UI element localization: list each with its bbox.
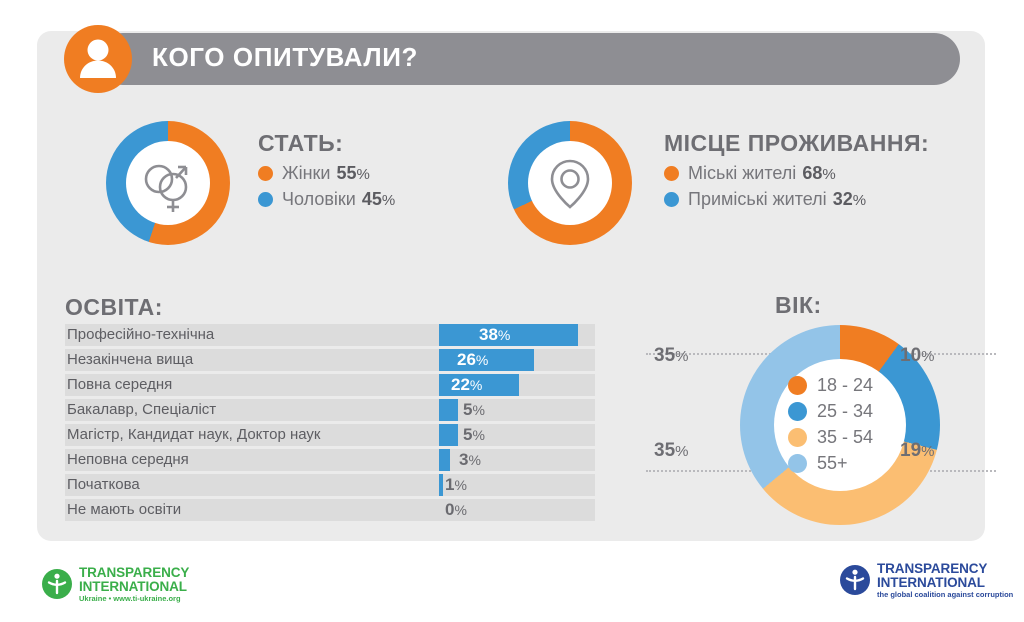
bar-fill — [439, 399, 458, 421]
bar-value: 1% — [445, 474, 467, 496]
legend-color-dot — [258, 192, 273, 207]
transparency-international-mark-icon — [840, 565, 870, 595]
bar-fill — [439, 424, 458, 446]
bar-label: Незакінчена вища — [67, 349, 193, 371]
bar-value: 0% — [445, 499, 467, 521]
gender-symbols-icon — [126, 141, 210, 225]
table-row: Не мають освіти 0% — [65, 499, 595, 521]
legend-item-label: Чоловіки — [282, 189, 356, 210]
age-callout-bottom-left: 35% — [654, 440, 688, 462]
legend-color-dot — [788, 454, 807, 473]
location-donut-hole — [528, 141, 612, 225]
legend-item-label: Міські жителі — [688, 163, 796, 184]
legend-item-label: 18 - 24 — [817, 375, 873, 396]
legend-color-dot — [788, 376, 807, 395]
age-section-title: ВІК: — [775, 292, 822, 319]
logo-text: TRANSPARENCY INTERNATIONAL the global co… — [877, 562, 1013, 598]
bar-value: 26% — [457, 349, 488, 371]
age-callout-top-left: 35% — [654, 345, 688, 367]
legend-item: Приміські жителі 32% — [664, 186, 866, 212]
bar-label: Неповна середня — [67, 449, 189, 471]
legend-item-value: 45% — [362, 189, 395, 210]
age-callout-top-right: 10% — [900, 345, 934, 367]
legend-color-dot — [664, 166, 679, 181]
transparency-international-logo: TRANSPARENCY INTERNATIONAL the global co… — [840, 562, 1013, 598]
logo-tagline: Ukraine • www.ti-ukraine.org — [79, 595, 189, 603]
legend-item: 25 - 34 — [788, 398, 873, 424]
bar-label: Магістр, Кандидат наук, Доктор наук — [67, 424, 320, 446]
bar-fill — [439, 449, 450, 471]
page-title: КОГО ОПИТУВАЛИ? — [152, 42, 418, 73]
legend-color-dot — [258, 166, 273, 181]
legend-item-value: 55% — [337, 163, 370, 184]
ti-ukraine-logo: TRANSPARENCY INTERNATIONAL Ukraine • www… — [42, 566, 189, 602]
legend-item-label: Жінки — [282, 163, 331, 184]
person-icon — [64, 25, 132, 93]
logo-line-2: INTERNATIONAL — [79, 580, 189, 594]
education-bar-chart: Професійно-технічна 38% Незакінчена вища… — [65, 324, 595, 524]
legend-item-label: 55+ — [817, 453, 848, 474]
legend-item: 35 - 54 — [788, 424, 873, 450]
table-row: Неповна середня 3% — [65, 449, 595, 471]
legend-color-dot — [788, 428, 807, 447]
bar-label: Професійно-технічна — [67, 324, 214, 346]
legend-item: Міські жителі 68% — [664, 160, 866, 186]
legend-item-label: 25 - 34 — [817, 401, 873, 422]
gender-legend: Жінки 55% Чоловіки 45% — [258, 160, 395, 212]
bar-fill — [439, 474, 443, 496]
bar-track — [65, 474, 595, 496]
logo-tagline: the global coalition against corruption — [877, 591, 1013, 599]
logo-text: TRANSPARENCY INTERNATIONAL Ukraine • www… — [79, 566, 189, 602]
bar-label: Не мають освіти — [67, 499, 181, 521]
education-section-title: ОСВІТА: — [65, 294, 163, 321]
legend-item: Жінки 55% — [258, 160, 395, 186]
table-row: Бакалавр, Спеціаліст 5% — [65, 399, 595, 421]
map-pin-icon — [528, 141, 612, 225]
logo-line-2: INTERNATIONAL — [877, 576, 1013, 590]
age-legend: 18 - 24 25 - 34 35 - 54 55+ — [788, 372, 873, 476]
legend-item: Чоловіки 45% — [258, 186, 395, 212]
table-row: Професійно-технічна 38% — [65, 324, 595, 346]
bar-label: Початкова — [67, 474, 140, 496]
bar-label: Повна середня — [67, 374, 172, 396]
location-section-title: МІСЦЕ ПРОЖИВАННЯ: — [664, 130, 929, 157]
bar-value: 5% — [463, 399, 485, 421]
legend-item-value: 68% — [802, 163, 835, 184]
logo-line-1: TRANSPARENCY — [79, 566, 189, 580]
bar-value: 3% — [459, 449, 481, 471]
gender-donut-hole — [126, 141, 210, 225]
location-donut-chart — [508, 121, 632, 245]
bar-label: Бакалавр, Спеціаліст — [67, 399, 216, 421]
legend-item: 18 - 24 — [788, 372, 873, 398]
legend-color-dot — [788, 402, 807, 421]
gender-section-title: СТАТЬ: — [258, 130, 343, 157]
gender-donut-chart — [106, 121, 230, 245]
age-callout-bottom-right: 19% — [900, 440, 934, 462]
table-row: Початкова 1% — [65, 474, 595, 496]
legend-item: 55+ — [788, 450, 873, 476]
bar-value: 22% — [451, 374, 482, 396]
location-legend: Міські жителі 68% Приміські жителі 32% — [664, 160, 866, 212]
bar-value: 38% — [479, 324, 510, 346]
table-row: Повна середня 22% — [65, 374, 595, 396]
bar-value: 5% — [463, 424, 485, 446]
legend-item-value: 32% — [833, 189, 866, 210]
legend-item-label: 35 - 54 — [817, 427, 873, 448]
legend-color-dot — [664, 192, 679, 207]
table-row: Магістр, Кандидат наук, Доктор наук 5% — [65, 424, 595, 446]
logo-line-1: TRANSPARENCY — [877, 562, 1013, 576]
transparency-international-mark-icon — [42, 569, 72, 599]
legend-item-label: Приміські жителі — [688, 189, 827, 210]
table-row: Незакінчена вища 26% — [65, 349, 595, 371]
